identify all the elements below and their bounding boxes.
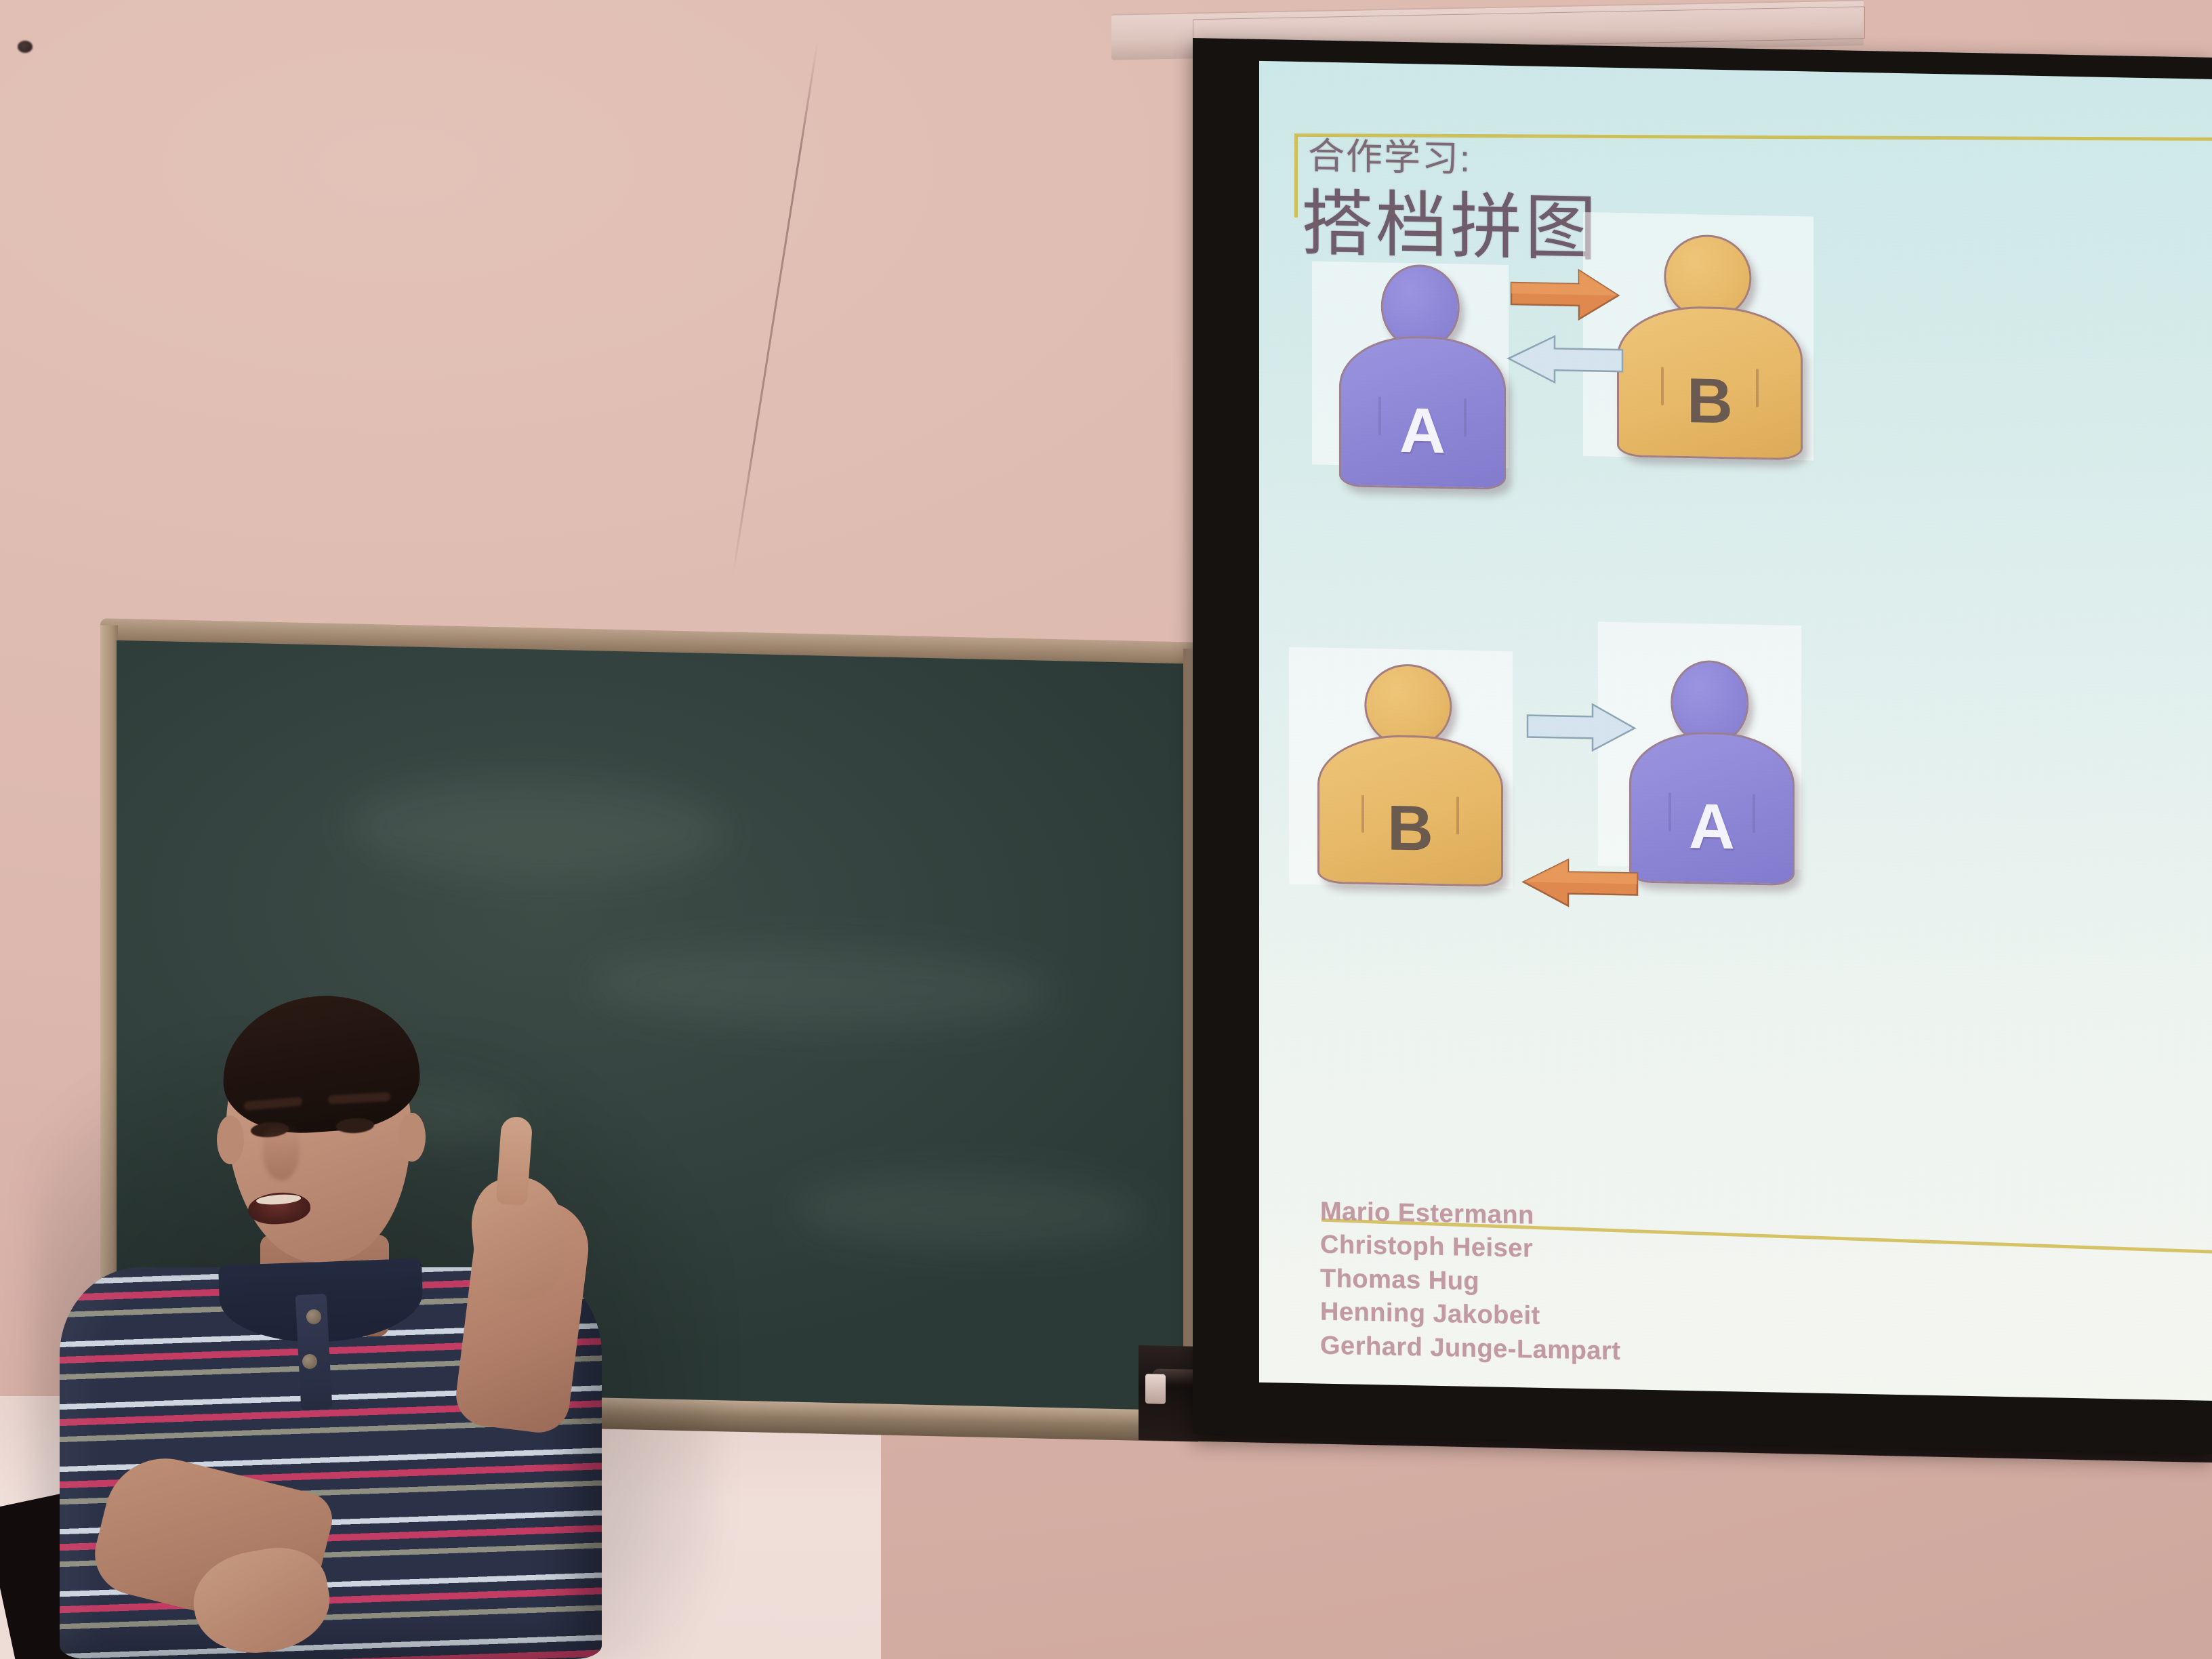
- presenter-index-finger: [496, 1116, 533, 1206]
- person-label-b: B: [1319, 794, 1501, 861]
- projector-screen-frame: 合作学习: 搭档拼图 A: [1193, 38, 2212, 1454]
- slide-rule-title-vertical: [1294, 134, 1298, 218]
- person-a-top: A: [1339, 263, 1502, 490]
- person-body-icon: A: [1339, 335, 1506, 490]
- person-label-b: B: [1619, 367, 1801, 434]
- chalk-smudge: [794, 1170, 1147, 1252]
- author-name: Henning Jakobeit: [1320, 1296, 1620, 1335]
- shirt-button: [302, 1354, 317, 1369]
- person-body-icon: B: [1617, 305, 1803, 460]
- author-name: Christoph Heiser: [1320, 1229, 1620, 1268]
- person-b-top: B: [1617, 233, 1799, 460]
- person-label-a: A: [1341, 397, 1504, 464]
- arrow-right-orange-top: [1511, 268, 1620, 321]
- person-label-a: A: [1631, 794, 1793, 861]
- slide-title: 搭档拼图: [1301, 188, 1599, 265]
- presenter-ear-right: [398, 1113, 426, 1162]
- person-b-bottom: B: [1317, 663, 1499, 887]
- presenter-ear-left: [217, 1115, 244, 1164]
- author-name: Mario Estermann: [1320, 1195, 1620, 1235]
- slide-subtitle: 合作学习:: [1308, 138, 1471, 178]
- person-a-bottom: A: [1629, 659, 1790, 886]
- arrow-left-blue-top: [1507, 334, 1622, 385]
- arrow-left-orange-bottom: [1522, 857, 1637, 908]
- author-name: Thomas Hug: [1320, 1262, 1620, 1301]
- author-name: Gerhard Junge-Lampart: [1320, 1329, 1620, 1368]
- shirt-button: [306, 1309, 321, 1324]
- presenter-hair: [218, 989, 423, 1139]
- presenter: [60, 996, 697, 1659]
- author-list: Mario Estermann Christoph Heiser Thomas …: [1320, 1195, 1620, 1368]
- classroom-photo: 合作学习: 搭档拼图 A: [0, 0, 2212, 1659]
- wall-nail-icon: [18, 41, 33, 53]
- presenter-nose: [263, 1122, 300, 1181]
- chalk-smudge: [347, 774, 726, 884]
- person-body-icon: A: [1629, 731, 1795, 886]
- arrow-right-blue-bottom: [1528, 701, 1636, 752]
- presentation-slide: 合作学习: 搭档拼图 A: [1259, 61, 2212, 1401]
- person-body-icon: B: [1317, 733, 1503, 886]
